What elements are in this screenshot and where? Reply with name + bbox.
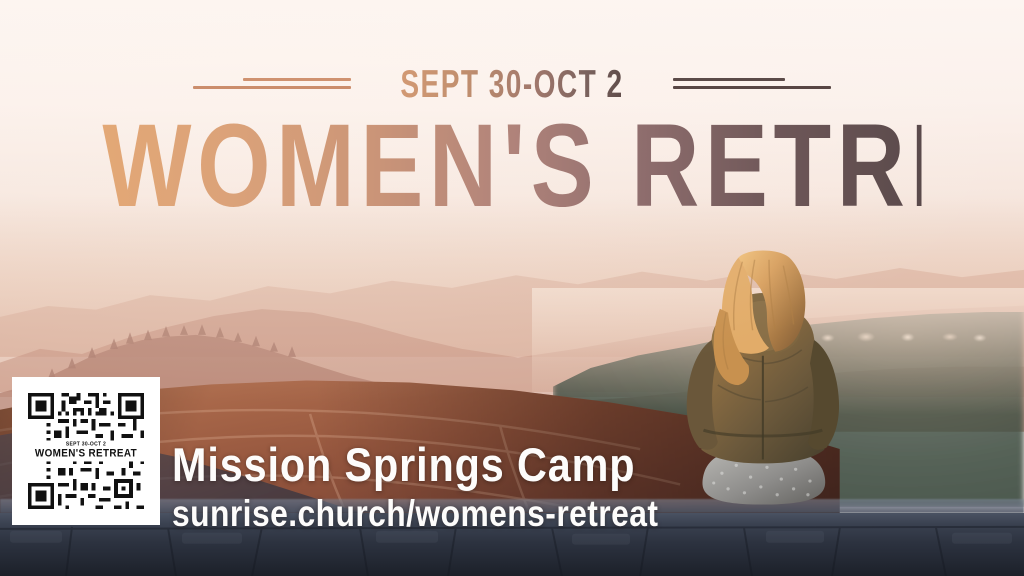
decorative-rule-left: [191, 76, 351, 92]
venue-name: Mission Springs Camp: [172, 441, 670, 488]
event-title: WOMEN'S RETREAT: [102, 112, 921, 221]
qr-center-label: SEPT 30-OCT 2 WOMEN'S RETREAT: [25, 440, 147, 461]
footer-block: Mission Springs Camp sunrise.church/wome…: [172, 441, 738, 532]
qr-label-title: WOMEN'S RETREAT: [35, 448, 137, 460]
headline-block: SEPT 30-OCT 2 WOMEN'S RETREAT: [0, 58, 1024, 221]
qr-code-panel[interactable]: SEPT 30-OCT 2 WOMEN'S RETREAT: [12, 377, 160, 525]
decorative-rule-right: [673, 76, 833, 92]
event-dates: SEPT 30-OCT 2: [398, 65, 627, 104]
poster-canvas: SEPT 30-OCT 2 WOMEN'S RETREAT: [0, 0, 1024, 576]
qr-code-graphic[interactable]: SEPT 30-OCT 2 WOMEN'S RETREAT: [24, 389, 148, 513]
registration-url[interactable]: sunrise.church/womens-retreat: [172, 495, 658, 532]
